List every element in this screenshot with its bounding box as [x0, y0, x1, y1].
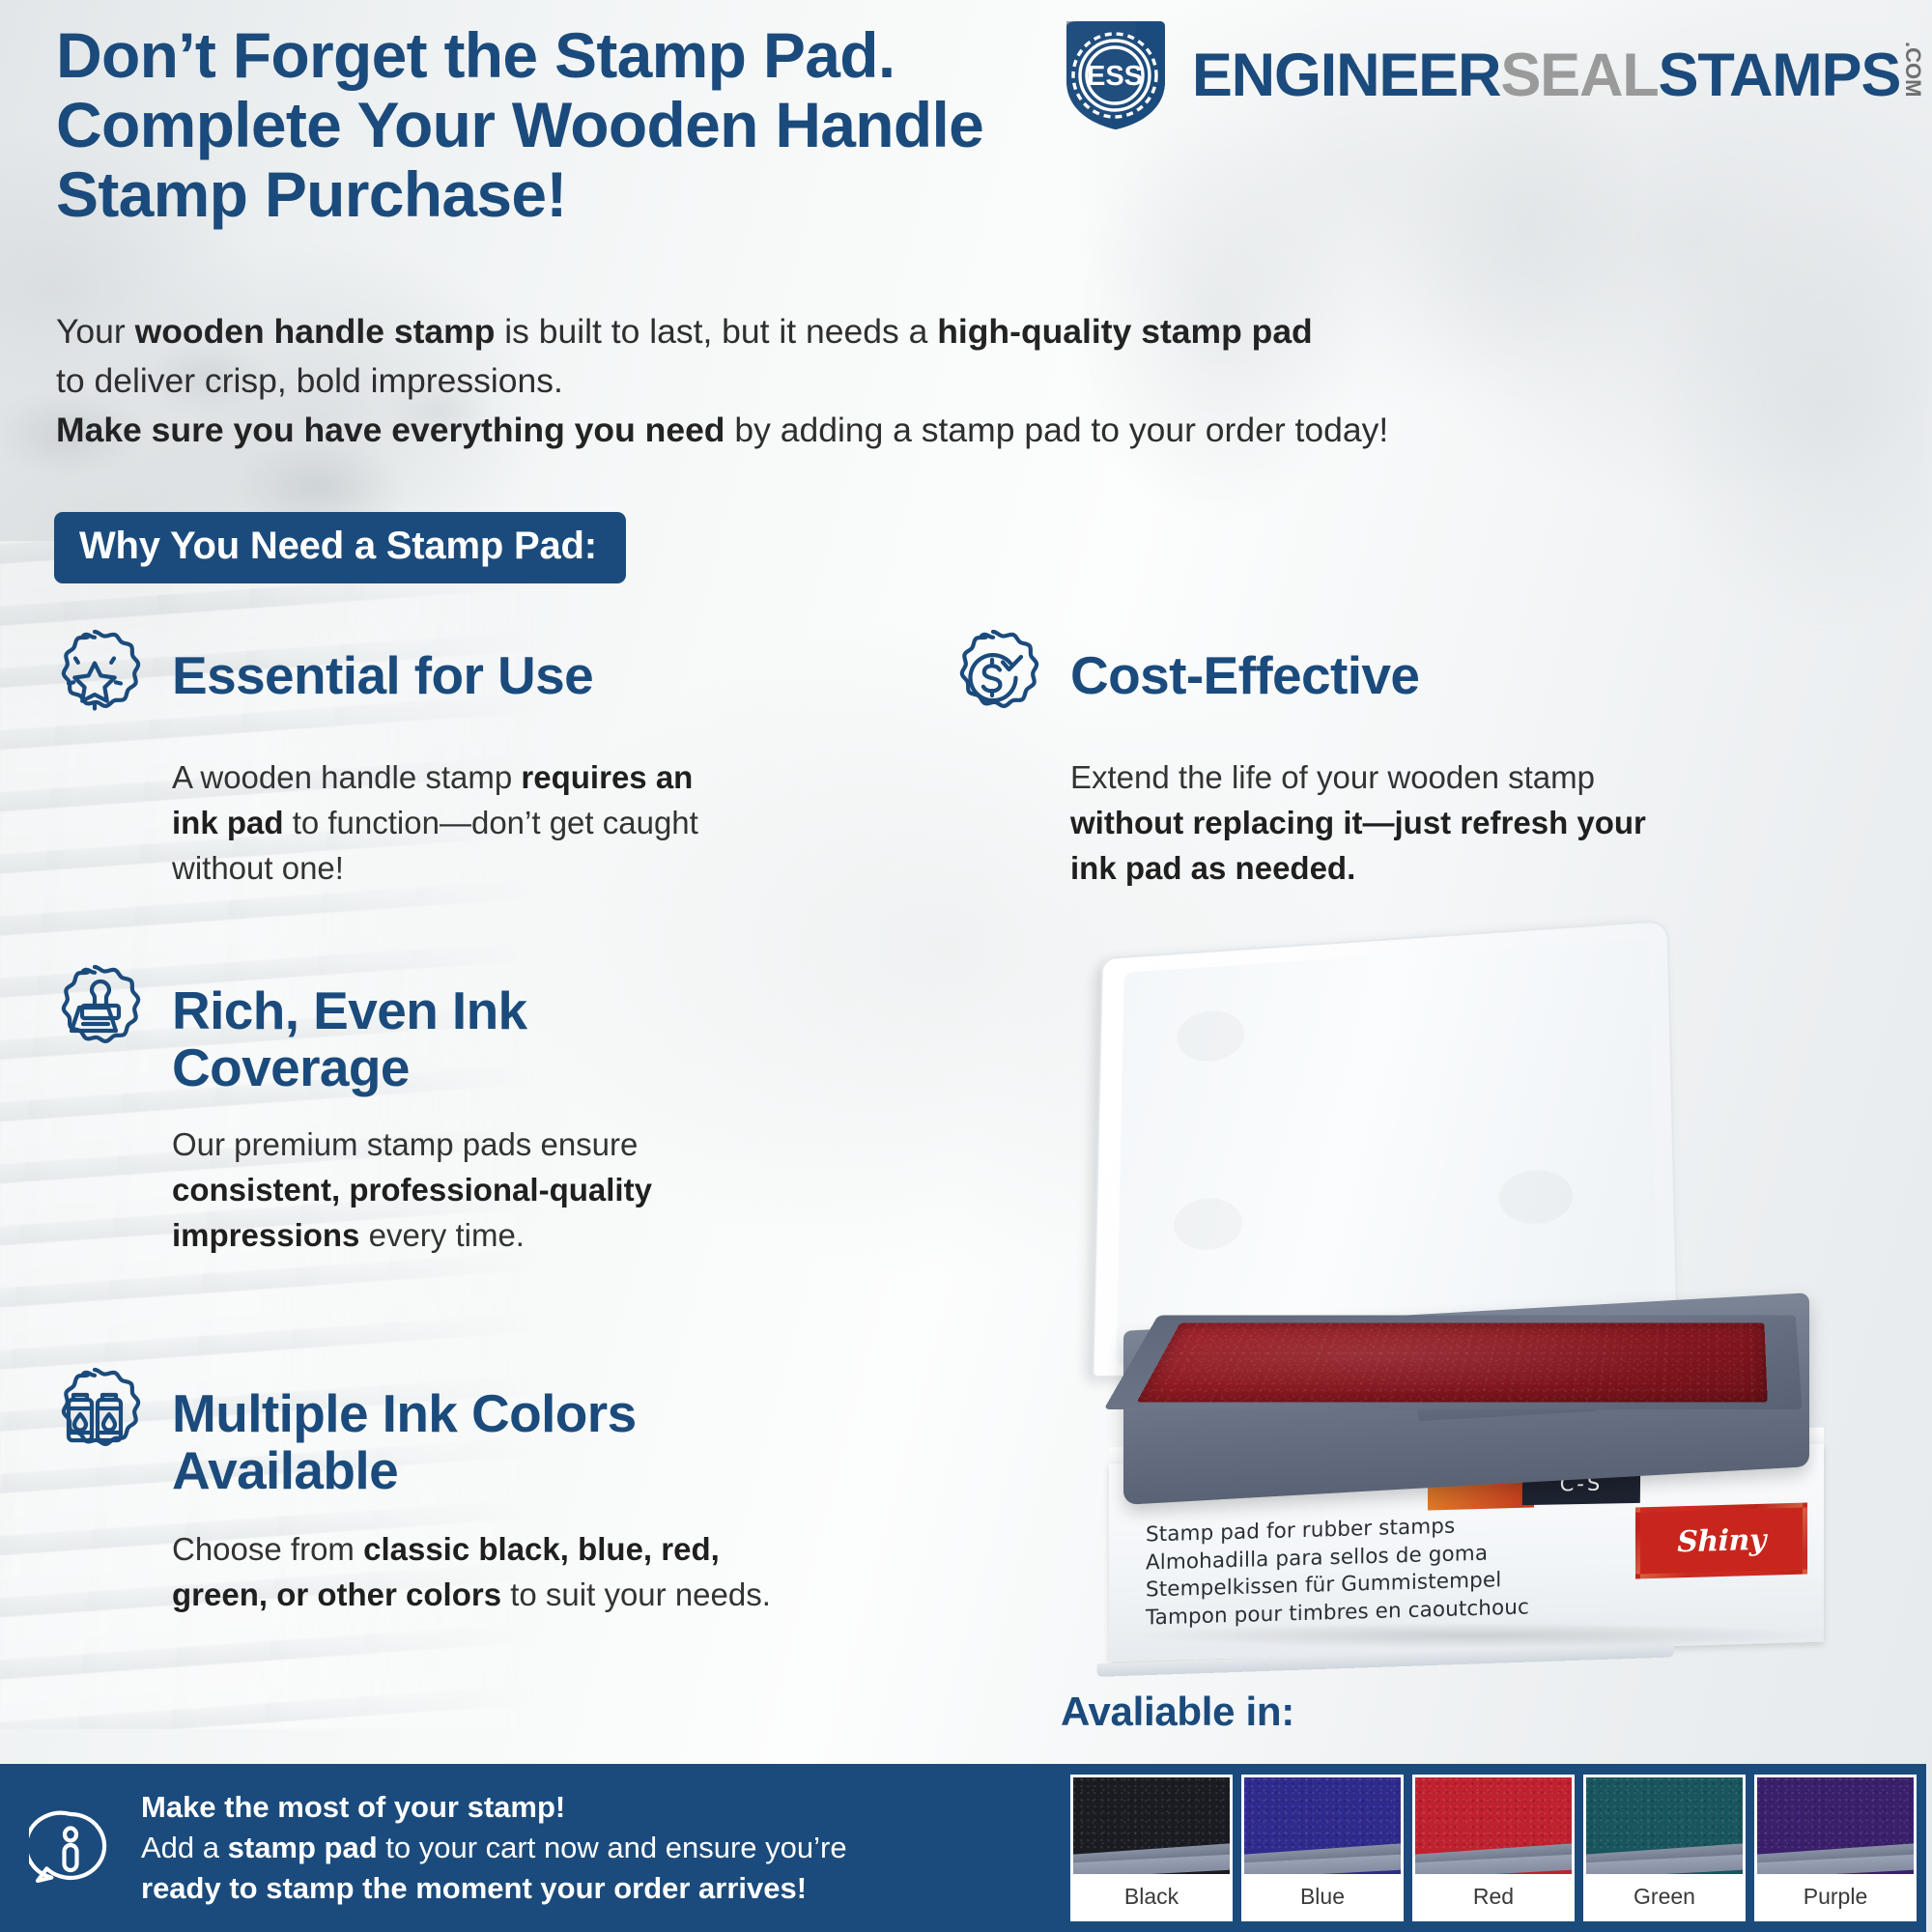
feature-title-line-1: Rich, Even Ink	[172, 980, 527, 1040]
footer-line-2: Add a stamp pad to your cart now and ens…	[141, 1828, 847, 1868]
feature-title-line-1: Multiple Ink Colors	[172, 1383, 637, 1443]
infographic-page: Don’t Forget the Stamp Pad. Complete You…	[0, 0, 1932, 1932]
shiny-brand-badge: Shiny	[1635, 1503, 1807, 1579]
feature-body-line-2: without replacing it—just refresh your	[1070, 801, 1903, 846]
footer-cta-bar: Make the most of your stamp! Add a stamp…	[0, 1764, 1061, 1932]
feature-multiple-ink-colors: Multiple Ink Colors Available Choose fro…	[39, 1364, 1005, 1618]
intro-line-3: Make sure you have everything you need b…	[56, 406, 1640, 455]
feature-title: Rich, Even Ink Coverage	[172, 961, 527, 1097]
feature-body: Our premium stamp pads ensure consistent…	[172, 1122, 908, 1259]
swatch-label: Green	[1586, 1874, 1743, 1918]
feat0-l2b: ink pad	[172, 805, 284, 840]
feat0-l1a: A wooden handle stamp	[172, 759, 521, 795]
footer-line-1: Make the most of your stamp!	[141, 1787, 847, 1828]
feature-body: A wooden handle stamp requires an ink pa…	[172, 755, 908, 892]
lid-mold-mark	[1177, 1009, 1245, 1063]
footer-l2a: Add a	[141, 1831, 228, 1864]
feat2-l3b: impressions	[172, 1217, 359, 1253]
feat3-l1b: classic black, blue, red,	[363, 1531, 720, 1567]
feature-body-line-2: ink pad to function—don’t get caught	[172, 801, 908, 846]
headline-line-1: Don’t Forget the Stamp Pad.	[56, 21, 1196, 91]
feat3-l1a: Choose from	[172, 1531, 363, 1567]
swatch-ink-texture	[1415, 1777, 1572, 1849]
footer-l2c: to your cart now and ensure you’re	[378, 1831, 847, 1864]
swatch-label: Blue	[1244, 1874, 1401, 1918]
wordmark-seal: SEAL	[1500, 48, 1658, 103]
feature-body: Choose from classic black, blue, red, gr…	[172, 1527, 1005, 1618]
feature-title-line-2: Coverage	[172, 1037, 410, 1097]
feature-body-line-1: Our premium stamp pads ensure	[172, 1122, 908, 1168]
intro-l1-c: is built to last, but it needs a	[495, 312, 937, 351]
intro-line-1: Your wooden handle stamp is built to las…	[56, 307, 1640, 356]
swatch-blue[interactable]: Blue	[1241, 1775, 1404, 1921]
feature-body: Extend the life of your wooden stamp wit…	[1070, 755, 1903, 892]
star-badge-icon	[39, 626, 151, 738]
feat3-l2a: to suit your needs.	[501, 1577, 771, 1612]
intro-l1-b: wooden handle stamp	[135, 312, 496, 351]
footer-l2b: stamp pad	[228, 1831, 378, 1864]
stamp-pad-ink-surface	[1137, 1323, 1768, 1403]
swatch-image	[1757, 1777, 1914, 1874]
ess-monogram: ESS	[1087, 61, 1143, 92]
swatch-image	[1244, 1777, 1401, 1874]
swatch-red[interactable]: Red	[1412, 1775, 1575, 1921]
dollar-check-badge-icon	[937, 626, 1049, 738]
why-need-stamp-pad-banner: Why You Need a Stamp Pad:	[54, 512, 626, 583]
feat2-l3a: every time.	[359, 1217, 525, 1253]
swatch-label: Purple	[1757, 1874, 1914, 1918]
swatch-ink-texture	[1244, 1777, 1401, 1849]
feature-header: Cost-Effective	[937, 626, 1903, 738]
brand-wordmark: ENGINEER SEAL STAMPS .COM	[1192, 45, 1922, 102]
intro-l1-d: high-quality stamp pad	[937, 312, 1313, 351]
headline-line-3: Stamp Purchase!	[56, 160, 1196, 230]
feature-title: Cost-Effective	[1070, 626, 1419, 704]
footer-text: Make the most of your stamp! Add a stamp…	[141, 1787, 847, 1909]
feature-body-line-1: Choose from classic black, blue, red,	[172, 1527, 1005, 1573]
swatch-label: Red	[1415, 1874, 1572, 1918]
available-in-label: Avaliable in:	[1061, 1689, 1294, 1735]
ink-bottles-badge-icon	[39, 1364, 151, 1476]
feature-header: Multiple Ink Colors Available	[39, 1364, 1005, 1500]
brand-logo[interactable]: ESS ENGINEER SEAL STAMPS .COM	[1059, 17, 1922, 131]
ess-shield-icon: ESS	[1059, 17, 1182, 131]
feat0-l2a: to function—don’t get caught	[284, 805, 698, 840]
feature-body-line-1: A wooden handle stamp requires an	[172, 755, 908, 801]
intro-l3-a: Make sure you have everything you need	[56, 411, 725, 449]
swatch-purple[interactable]: Purple	[1754, 1775, 1917, 1921]
rubber-stamp-badge-icon	[39, 961, 151, 1073]
color-swatch-strip: Black Blue Red Green	[1061, 1764, 1926, 1932]
wordmark-dotcom: .COM	[1903, 42, 1922, 97]
feat2-l2b: consistent, professional-quality	[172, 1172, 652, 1207]
feat1-l3b: ink pad as needed.	[1070, 850, 1355, 886]
shiny-brand-label: Shiny	[1640, 1508, 1803, 1575]
wordmark-engineer: ENGINEER	[1192, 48, 1500, 103]
product-photo-stamp-pad: C-S Stamp pad for rubber stamps Almohadi…	[1070, 927, 1872, 1343]
page-title: Don’t Forget the Stamp Pad. Complete You…	[56, 21, 1196, 230]
feature-rich-even-ink-coverage: Rich, Even Ink Coverage Our premium stam…	[39, 961, 908, 1258]
footer-line-1-text: Make the most of your stamp!	[141, 1790, 565, 1824]
stamp-pad-lid-inner	[1116, 938, 1658, 1366]
intro-l1-a: Your	[56, 312, 135, 351]
headline-line-2: Complete Your Wooden Handle	[56, 91, 1196, 160]
feat1-l2b: without replacing it—just refresh your	[1070, 805, 1646, 840]
wordmark-stamps: STAMPS	[1659, 48, 1901, 103]
feature-header: Essential for Use	[39, 626, 908, 738]
product-box-multilingual-text: Stamp pad for rubber stamps Almohadilla …	[1146, 1511, 1529, 1632]
product-photo-stage: C-S Stamp pad for rubber stamps Almohadi…	[1070, 927, 1872, 1662]
feature-body-line-1: Extend the life of your wooden stamp	[1070, 755, 1903, 801]
feature-body-line-3: ink pad as needed.	[1070, 846, 1903, 892]
intro-l3-b: by adding a stamp pad to your order toda…	[725, 411, 1389, 449]
swatch-image	[1073, 1777, 1230, 1874]
footer-line-3: ready to stamp the moment your order arr…	[141, 1868, 847, 1909]
why-banner-label: Why You Need a Stamp Pad:	[79, 525, 597, 567]
lid-mold-mark	[1498, 1169, 1573, 1225]
intro-paragraph: Your wooden handle stamp is built to las…	[56, 307, 1640, 455]
feature-title: Essential for Use	[172, 626, 593, 704]
swatch-green[interactable]: Green	[1583, 1775, 1746, 1921]
intro-line-2: to deliver crisp, bold impressions.	[56, 356, 1640, 406]
swatch-ink-texture	[1586, 1777, 1743, 1849]
swatch-label: Black	[1073, 1874, 1230, 1918]
feature-body-line-3: impressions every time.	[172, 1213, 908, 1259]
feature-essential-for-use: Essential for Use A wooden handle stamp …	[39, 626, 908, 892]
swatch-black[interactable]: Black	[1070, 1775, 1233, 1921]
feature-title: Multiple Ink Colors Available	[172, 1364, 637, 1500]
feature-body-line-3: without one!	[172, 846, 908, 892]
feature-body-line-2: consistent, professional-quality	[172, 1168, 908, 1213]
footer-line-3-text: ready to stamp the moment your order arr…	[141, 1871, 807, 1905]
swatch-image	[1415, 1777, 1572, 1874]
swatch-ink-texture	[1757, 1777, 1914, 1849]
feat3-l2b: green, or other colors	[172, 1577, 501, 1612]
feature-body-line-2: green, or other colors to suit your need…	[172, 1573, 1005, 1618]
feature-title-line-2: Available	[172, 1440, 398, 1500]
feature-header: Rich, Even Ink Coverage	[39, 961, 908, 1097]
info-bubble-icon	[29, 1806, 112, 1889]
feat0-l1b: requires an	[521, 759, 693, 795]
swatch-ink-texture	[1073, 1777, 1230, 1849]
lid-mold-mark	[1174, 1197, 1243, 1251]
feature-cost-effective: Cost-Effective Extend the life of your w…	[937, 626, 1903, 892]
product-drop-shadow	[1138, 1623, 1814, 1648]
swatch-image	[1586, 1777, 1743, 1874]
